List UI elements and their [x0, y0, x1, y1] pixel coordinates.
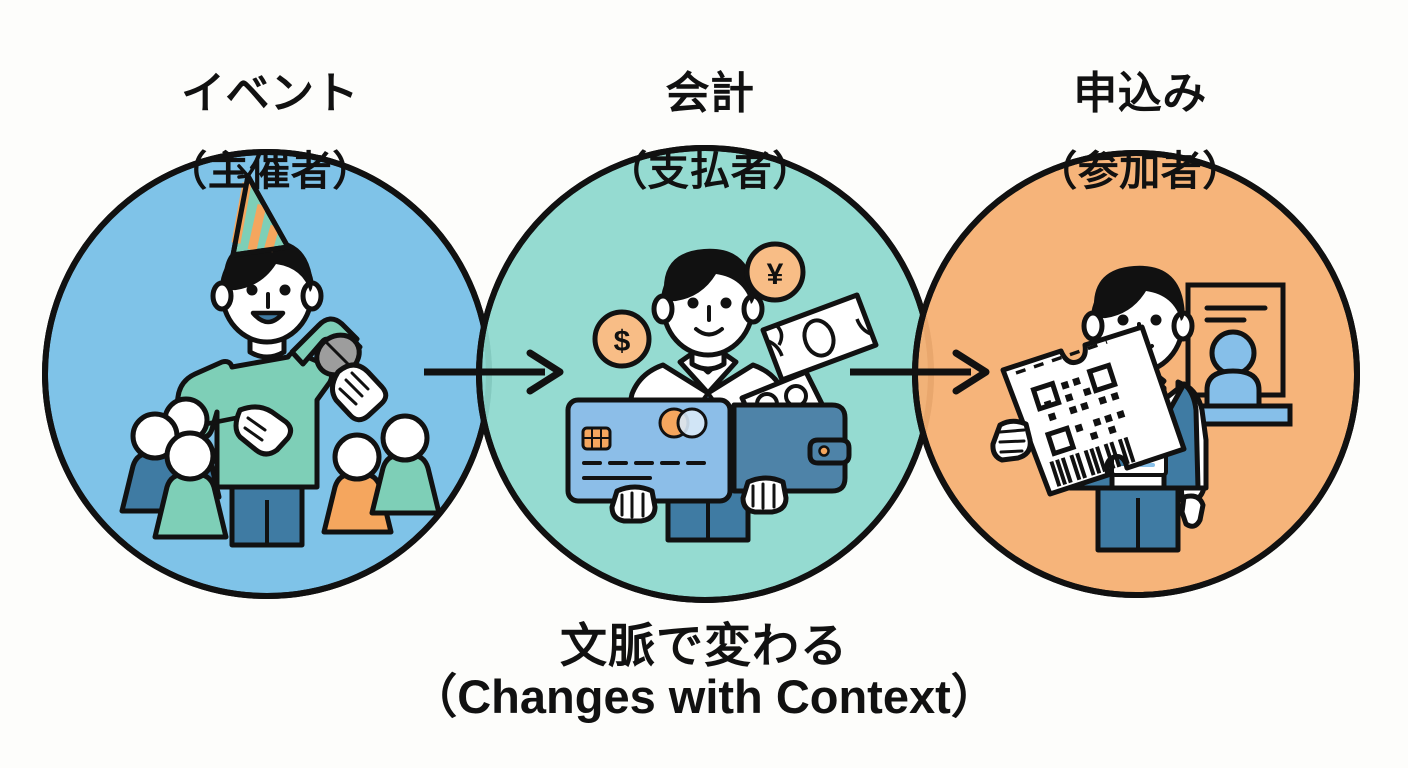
- label-accounting-line1: 会計: [530, 71, 890, 117]
- diagram-stage: ¥ $: [0, 0, 1408, 768]
- label-application-participant: 申込み （参加者）: [960, 38, 1320, 226]
- credit-card-icon: [568, 400, 730, 521]
- label-event-organizer: イベント （主催者）: [90, 38, 450, 226]
- dollar-coin-icon: $: [595, 312, 649, 366]
- svg-text:¥: ¥: [767, 258, 784, 291]
- label-event-line1: イベント: [90, 71, 450, 117]
- label-event-line2: （主催者）: [90, 150, 450, 193]
- label-application-line1: 申込み: [960, 71, 1320, 117]
- caption-line-english: （Changes with Context）: [354, 673, 1054, 720]
- label-application-line2: （参加者）: [960, 150, 1320, 193]
- svg-text:$: $: [614, 325, 631, 358]
- label-accounting-line2: （支払者）: [530, 150, 890, 193]
- label-accounting-payer: 会計 （支払者）: [530, 38, 890, 226]
- caption-line-japanese: 文脈で変わる: [354, 622, 1054, 669]
- diagram-caption: 文脈で変わる （Changes with Context）: [354, 622, 1054, 720]
- yen-coin-icon: ¥: [747, 244, 803, 300]
